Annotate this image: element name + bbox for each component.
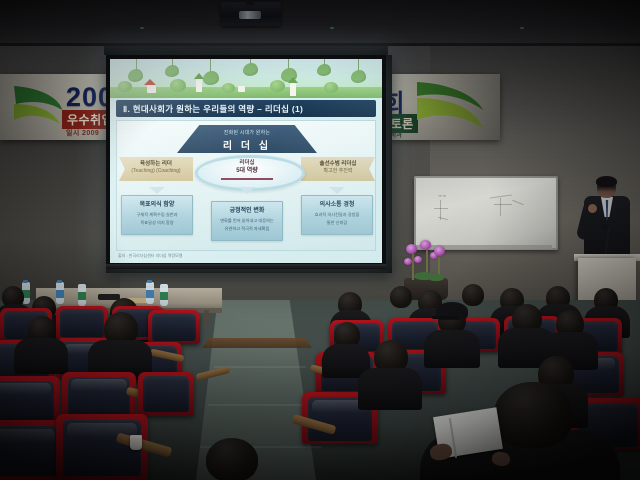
seat-cushion [60,309,104,337]
audience-shoulders [14,338,68,374]
screen-roller-bar [104,46,388,55]
ceiling-light-dot [520,27,524,29]
whiteboard: ⌁⌁ [414,176,558,250]
bottle-cap [147,280,152,283]
audience-shoulders [358,368,422,410]
right-panel-line1: 솔선수범 리더십 [301,160,375,168]
arrow-down-icon [149,187,165,194]
orchid-bloom [434,246,445,256]
aisle-wood-step [202,338,312,348]
screen-bottom-bar [106,264,386,269]
diagram-roof: 진화된 시대가 원하는 리 더 십 [177,125,317,153]
projection-screen: Ⅱ. 현대사회가 원하는 우리들의 역량 – 리더십 (1) 진화된 시대가 원… [110,59,382,263]
right-panel-line2: 확고한 추진력 [301,168,375,175]
aisle-step [208,404,314,406]
presenter-hair [596,176,617,187]
diagram-left-panel: 육성하는 리더 (Teaching) (Coaching) [119,157,193,181]
bottle-cap [23,280,28,283]
box-heading: 의사소통 경청 [302,201,372,210]
projector-mount [246,0,254,5]
slide-title-bar: Ⅱ. 현대사회가 원하는 우리들의 역량 – 리더십 (1) [116,100,376,117]
box-sub1: 효과적 의사전달과 경청을 [302,212,372,218]
plant-leaf [428,274,444,281]
left-panel-line2: (Teaching) (Coaching) [119,168,193,175]
slide-header-illustration [110,59,382,98]
ceiling [0,0,640,46]
competency-box: 목표의식 함양 구체적 계획수립 실천과 목표달성 의지 함양 [121,195,193,235]
orchid-bloom [404,258,412,265]
box-sub2: 유연하고 적극적 자세확립 [212,226,282,232]
slide-diagram: 진화된 시대가 원하는 리 더 십 육성하는 리더 (Teaching) (Co… [116,120,376,251]
box-sub2: 통한 신뢰감 [302,220,372,226]
projector-icon [221,2,281,26]
paper-cup-rim [130,435,142,438]
seat-highlight [71,379,127,391]
box-sub1: 변화를 먼저 읽어내고 대응하는 [212,218,282,224]
microphone-icon [602,224,608,230]
audience-shoulders [424,330,480,368]
competency-box: 긍정적인 변화 변화를 먼저 읽어내고 대응하는 유연하고 적극적 자세확립 [211,201,283,241]
bottle-label [146,290,154,298]
paper-cup [130,436,142,450]
projector-lens-icon [239,11,261,19]
slide-title-text: Ⅱ. 현대사회가 원하는 우리들의 역량 – 리더십 (1) [123,103,303,115]
audience-head [390,286,412,308]
diagram-roof-title: 리 더 십 [177,137,317,152]
foreground-head [494,382,572,448]
center-underline [221,178,273,180]
audience-head [462,284,484,306]
center-line2: 5대 역량 [215,167,279,175]
orchid-bloom [420,240,431,250]
diagram-right-panel: 솔선수범 리더십 확고한 추진력 [301,157,375,181]
ceiling-light-dot [330,27,334,29]
auditorium-photo: 200 우수취업 일시 2009 수회 공전학토론 대학교 환경공학과 [0,0,640,480]
arrow-down-icon [239,187,255,194]
cap-brim-icon [432,316,458,319]
ceiling-light-dot [140,27,144,29]
bottle-label [160,292,168,300]
orchid-bloom [406,244,417,254]
arrow-down-icon [329,187,345,194]
left-wall [0,140,120,300]
audience-head [206,438,258,480]
bottle-cap [57,280,62,283]
box-sub1: 구체적 계획수립 실천과 [122,212,192,218]
seat-cushion [143,376,189,412]
seat-cushion [152,313,196,341]
box-sub2: 목표달성 의지 함양 [122,220,192,226]
competency-box: 의사소통 경청 효과적 의사전달과 경청을 통한 신뢰감 [301,195,373,235]
table-leg [204,310,209,326]
seat-highlight [0,383,51,395]
bottle-label [78,292,86,300]
presenter-hand [588,204,597,213]
seat-highlight [0,429,55,443]
orchid-bloom [414,256,422,263]
left-panel-line1: 육성하는 리더 [119,160,193,168]
diagram-roof-kicker: 진화된 시대가 원하는 [177,129,317,136]
slide-footnote: 출처 : 한국리더십센터 리더십 역량모델 [118,253,182,259]
box-heading: 목표의식 함양 [122,201,192,210]
box-heading: 긍정적인 변화 [212,207,282,216]
bottle-label [56,290,64,298]
center-line1: 리더십 [215,159,279,167]
